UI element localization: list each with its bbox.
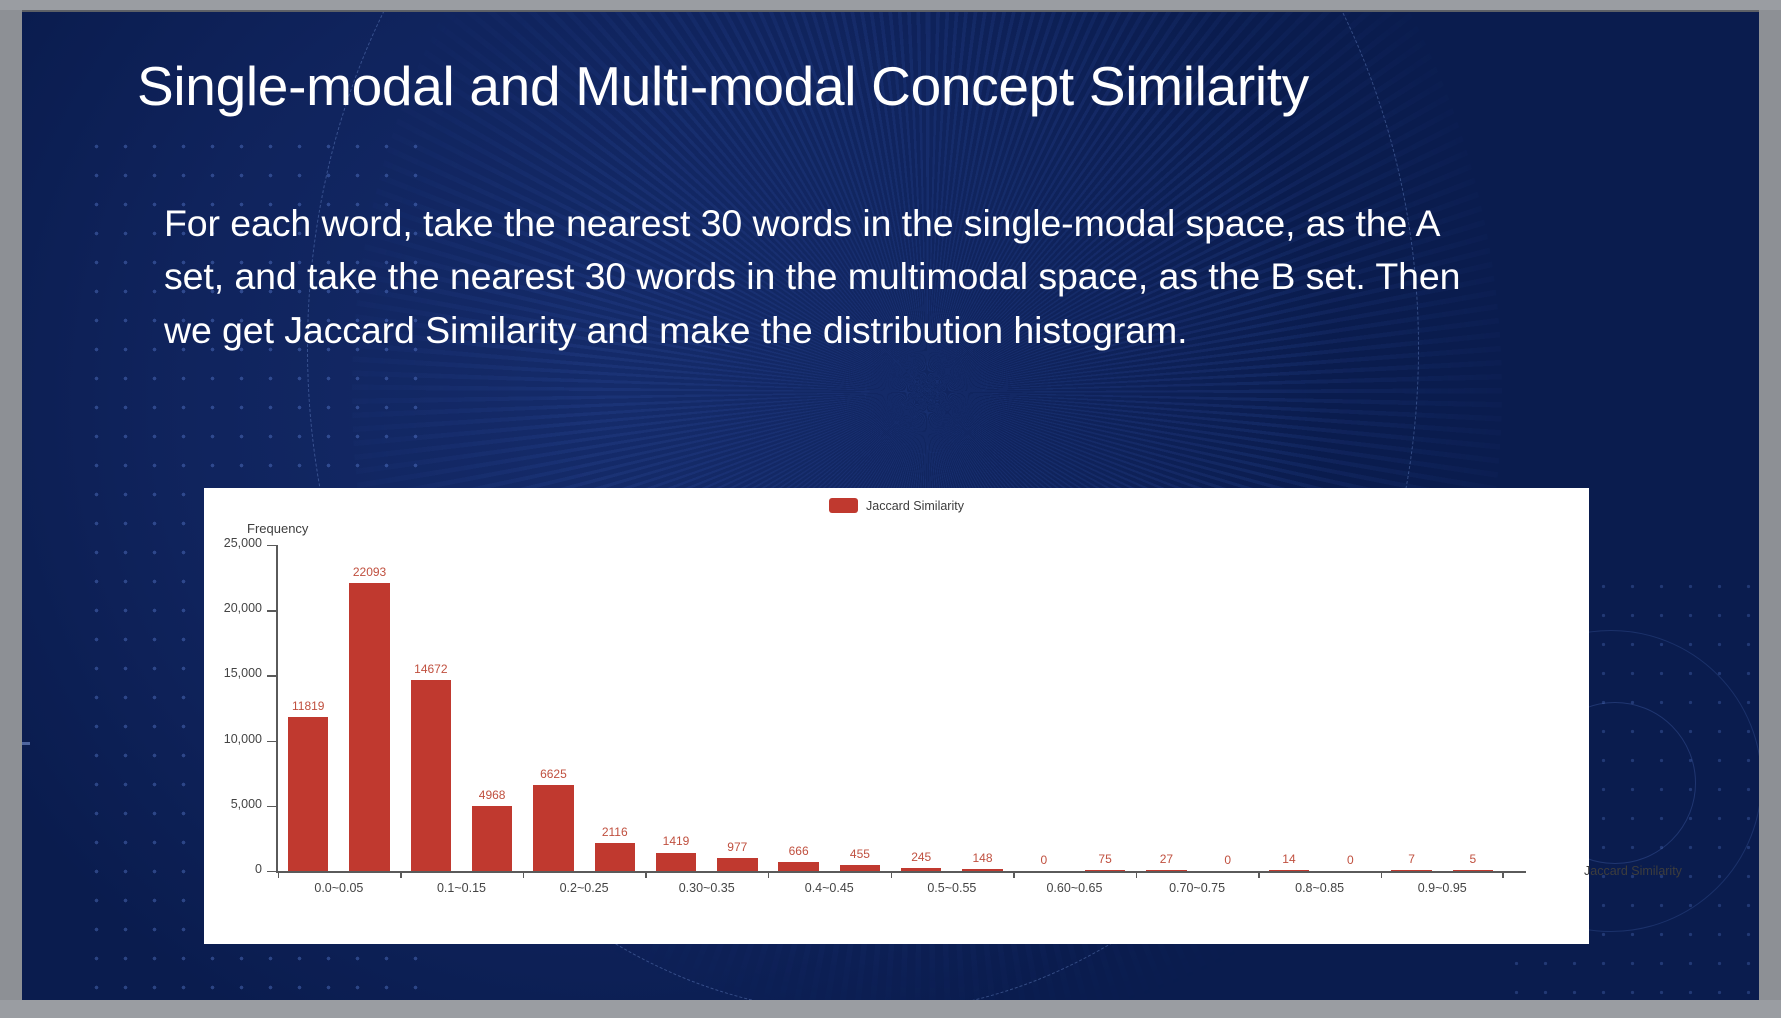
bar-value-label: 4968: [479, 788, 506, 802]
x-axis-label: 0.60~0.65: [1046, 881, 1102, 895]
histogram-bar[interactable]: 27: [1136, 545, 1197, 871]
bar-rect[interactable]: [411, 680, 451, 871]
x-axis-tick-mark: [278, 871, 279, 878]
x-axis-tick: [952, 871, 1013, 879]
x-axis-tick-mark: [768, 871, 769, 878]
histogram-bar[interactable]: 0: [1320, 545, 1381, 871]
bar-value-label: 27: [1160, 852, 1173, 866]
bar-value-label: 0: [1347, 853, 1354, 867]
x-axis-label-slot: 0.70~0.75: [1136, 881, 1259, 901]
bar-value-label: 148: [972, 851, 992, 865]
y-axis-tick: 25,000: [267, 545, 276, 546]
bar-value-label: 245: [911, 850, 931, 864]
histogram-bar[interactable]: 455: [829, 545, 890, 871]
bar-value-label: 0: [1224, 853, 1231, 867]
histogram-bar[interactable]: 245: [891, 545, 952, 871]
x-axis-tick-labels: 0.0~0.050.1~0.150.2~0.250.30~0.350.4~0.4…: [278, 881, 1504, 901]
x-axis-tick: [1381, 871, 1442, 879]
x-axis-label-slot: 0.5~0.55: [891, 881, 1014, 901]
y-axis-tick-label: 20,000: [224, 601, 262, 615]
page-title: Single-modal and Multi-modal Concept Sim…: [137, 56, 1657, 118]
slide-body-text: For each word, take the nearest 30 words…: [164, 197, 1504, 357]
histogram-bar[interactable]: 14: [1258, 545, 1319, 871]
x-axis-label-slot: 0.1~0.15: [400, 881, 523, 901]
x-axis-tick: [645, 871, 706, 879]
slide-edge-tick: [22, 742, 30, 745]
histogram-bar[interactable]: 1419: [645, 545, 706, 871]
x-axis-tick: [1136, 871, 1197, 879]
x-axis-tick-mark: [1136, 871, 1137, 878]
histogram-bar[interactable]: 977: [707, 545, 768, 871]
x-axis-tick-mark: [1381, 871, 1382, 878]
presentation-slide: Single-modal and Multi-modal Concept Sim…: [22, 12, 1759, 1000]
x-axis-tick: [1013, 871, 1074, 879]
histogram-bar[interactable]: 148: [952, 545, 1013, 871]
x-axis-label: 0.0~0.05: [314, 881, 363, 895]
x-axis-tick: [707, 871, 768, 879]
bar-value-label: 0: [1040, 853, 1047, 867]
histogram-bar[interactable]: 666: [768, 545, 829, 871]
x-axis-title: Jaccard Similarity: [1584, 864, 1682, 878]
x-axis-tick-mark: [891, 871, 892, 878]
x-axis-tick: [400, 871, 461, 879]
y-axis-tick: 0: [267, 871, 276, 872]
x-axis-tick: [891, 871, 952, 879]
x-axis-tick: [278, 871, 339, 879]
y-axis-tick: 20,000: [267, 610, 276, 611]
bar-value-label: 11819: [292, 699, 324, 713]
x-axis-tick: [523, 871, 584, 879]
window-left-bar: [0, 10, 22, 1018]
y-axis-tick: 15,000: [267, 675, 276, 676]
x-axis-tick: [768, 871, 829, 879]
histogram-bar[interactable]: 7: [1381, 545, 1442, 871]
bar-value-label: 75: [1098, 852, 1111, 866]
histogram-bar[interactable]: 22093: [339, 545, 400, 871]
histogram-bar[interactable]: 4968: [461, 545, 522, 871]
bar-value-label: 6625: [540, 767, 567, 781]
bar-value-label: 22093: [353, 565, 386, 579]
histogram-bars: 1181922093146724968662521161419977666455…: [278, 545, 1504, 871]
x-axis-label-slot: 0.60~0.65: [1013, 881, 1136, 901]
bar-rect[interactable]: [595, 843, 635, 871]
histogram-bar[interactable]: 0: [1197, 545, 1258, 871]
x-axis-label-slot: 0.2~0.25: [523, 881, 646, 901]
bar-value-label: 7: [1408, 852, 1415, 866]
x-axis-tick: [461, 871, 522, 879]
x-axis-tick-mark: [523, 871, 524, 878]
histogram-bar[interactable]: 5: [1442, 545, 1503, 871]
x-axis-tick: [1320, 871, 1381, 879]
x-axis-tick: [339, 871, 400, 879]
x-axis-label-slot: 0.8~0.85: [1258, 881, 1381, 901]
x-axis-label: 0.9~0.95: [1418, 881, 1467, 895]
x-axis-label-slot: 0.30~0.35: [645, 881, 768, 901]
x-axis-label-slot: 0.4~0.45: [768, 881, 891, 901]
y-axis-tick-label: 15,000: [224, 666, 262, 680]
y-axis-tick-label: 10,000: [224, 732, 262, 746]
bar-value-label: 5: [1470, 852, 1477, 866]
x-axis-tick-mark: [1013, 871, 1014, 878]
slide-window-frame: Single-modal and Multi-modal Concept Sim…: [0, 0, 1781, 1018]
histogram-bar[interactable]: 2116: [584, 545, 645, 871]
x-axis-tick: [1258, 871, 1319, 879]
x-axis-tick-mark: [400, 871, 401, 878]
bar-rect[interactable]: [472, 806, 512, 871]
x-axis-label-slot: 0.0~0.05: [278, 881, 401, 901]
x-axis-label: 0.30~0.35: [679, 881, 735, 895]
histogram-chart-card: Jaccard Similarity Frequency 05,00010,00…: [204, 488, 1589, 944]
bar-value-label: 1419: [663, 834, 690, 848]
bar-rect[interactable]: [533, 785, 573, 871]
x-axis-label: 0.8~0.85: [1295, 881, 1344, 895]
y-axis-tick-label: 0: [255, 862, 262, 876]
histogram-bar[interactable]: 0: [1013, 545, 1074, 871]
bar-rect[interactable]: [349, 583, 389, 871]
bar-value-label: 455: [850, 847, 870, 861]
bar-rect[interactable]: [288, 717, 328, 871]
bar-value-label: 14: [1282, 852, 1295, 866]
x-axis-label: 0.1~0.15: [437, 881, 486, 895]
bar-value-label: 977: [727, 840, 747, 854]
histogram-bar[interactable]: 14672: [400, 545, 461, 871]
x-axis-tick-mark: [1258, 871, 1259, 878]
y-axis-tick: 10,000: [267, 741, 276, 742]
bar-value-label: 666: [789, 844, 809, 858]
x-axis-label: 0.70~0.75: [1169, 881, 1225, 895]
y-axis-tick-label: 5,000: [231, 797, 262, 811]
x-axis-label: 0.2~0.25: [560, 881, 609, 895]
bar-rect[interactable]: [778, 862, 818, 871]
window-bottom-bar: [0, 1000, 1781, 1018]
x-axis-label: 0.4~0.45: [805, 881, 854, 895]
x-axis-tick: [1197, 871, 1258, 879]
y-axis-tick: 5,000: [267, 806, 276, 807]
bar-value-label: 14672: [414, 662, 447, 676]
legend-swatch-icon: [829, 498, 858, 513]
histogram-bar[interactable]: 75: [1074, 545, 1135, 871]
y-axis-title: Frequency: [247, 521, 308, 536]
legend-item-label: Jaccard Similarity: [866, 499, 964, 513]
x-axis-tick-mark: [645, 871, 646, 878]
window-top-bar: [0, 0, 1781, 12]
bar-rect[interactable]: [717, 858, 757, 871]
x-axis-label: 0.5~0.55: [927, 881, 976, 895]
x-axis-tick: [829, 871, 890, 879]
bar-rect[interactable]: [656, 853, 696, 872]
x-axis-label-slot: 0.9~0.95: [1381, 881, 1504, 901]
chart-plot-area: 05,00010,00015,00020,00025,000 118192209…: [276, 545, 1504, 871]
chart-legend: Jaccard Similarity: [204, 498, 1589, 513]
histogram-bar[interactable]: 11819: [278, 545, 339, 871]
window-right-bar: [1759, 10, 1781, 1018]
x-axis-ticks: [278, 871, 1504, 879]
x-axis-tick: [1074, 871, 1135, 879]
bar-value-label: 2116: [602, 825, 628, 839]
x-axis-tick: [1442, 871, 1503, 879]
x-axis-tick-mark: [1502, 871, 1503, 878]
x-axis-tick: [584, 871, 645, 879]
y-axis-tick-label: 25,000: [224, 536, 262, 550]
histogram-bar[interactable]: 6625: [523, 545, 584, 871]
